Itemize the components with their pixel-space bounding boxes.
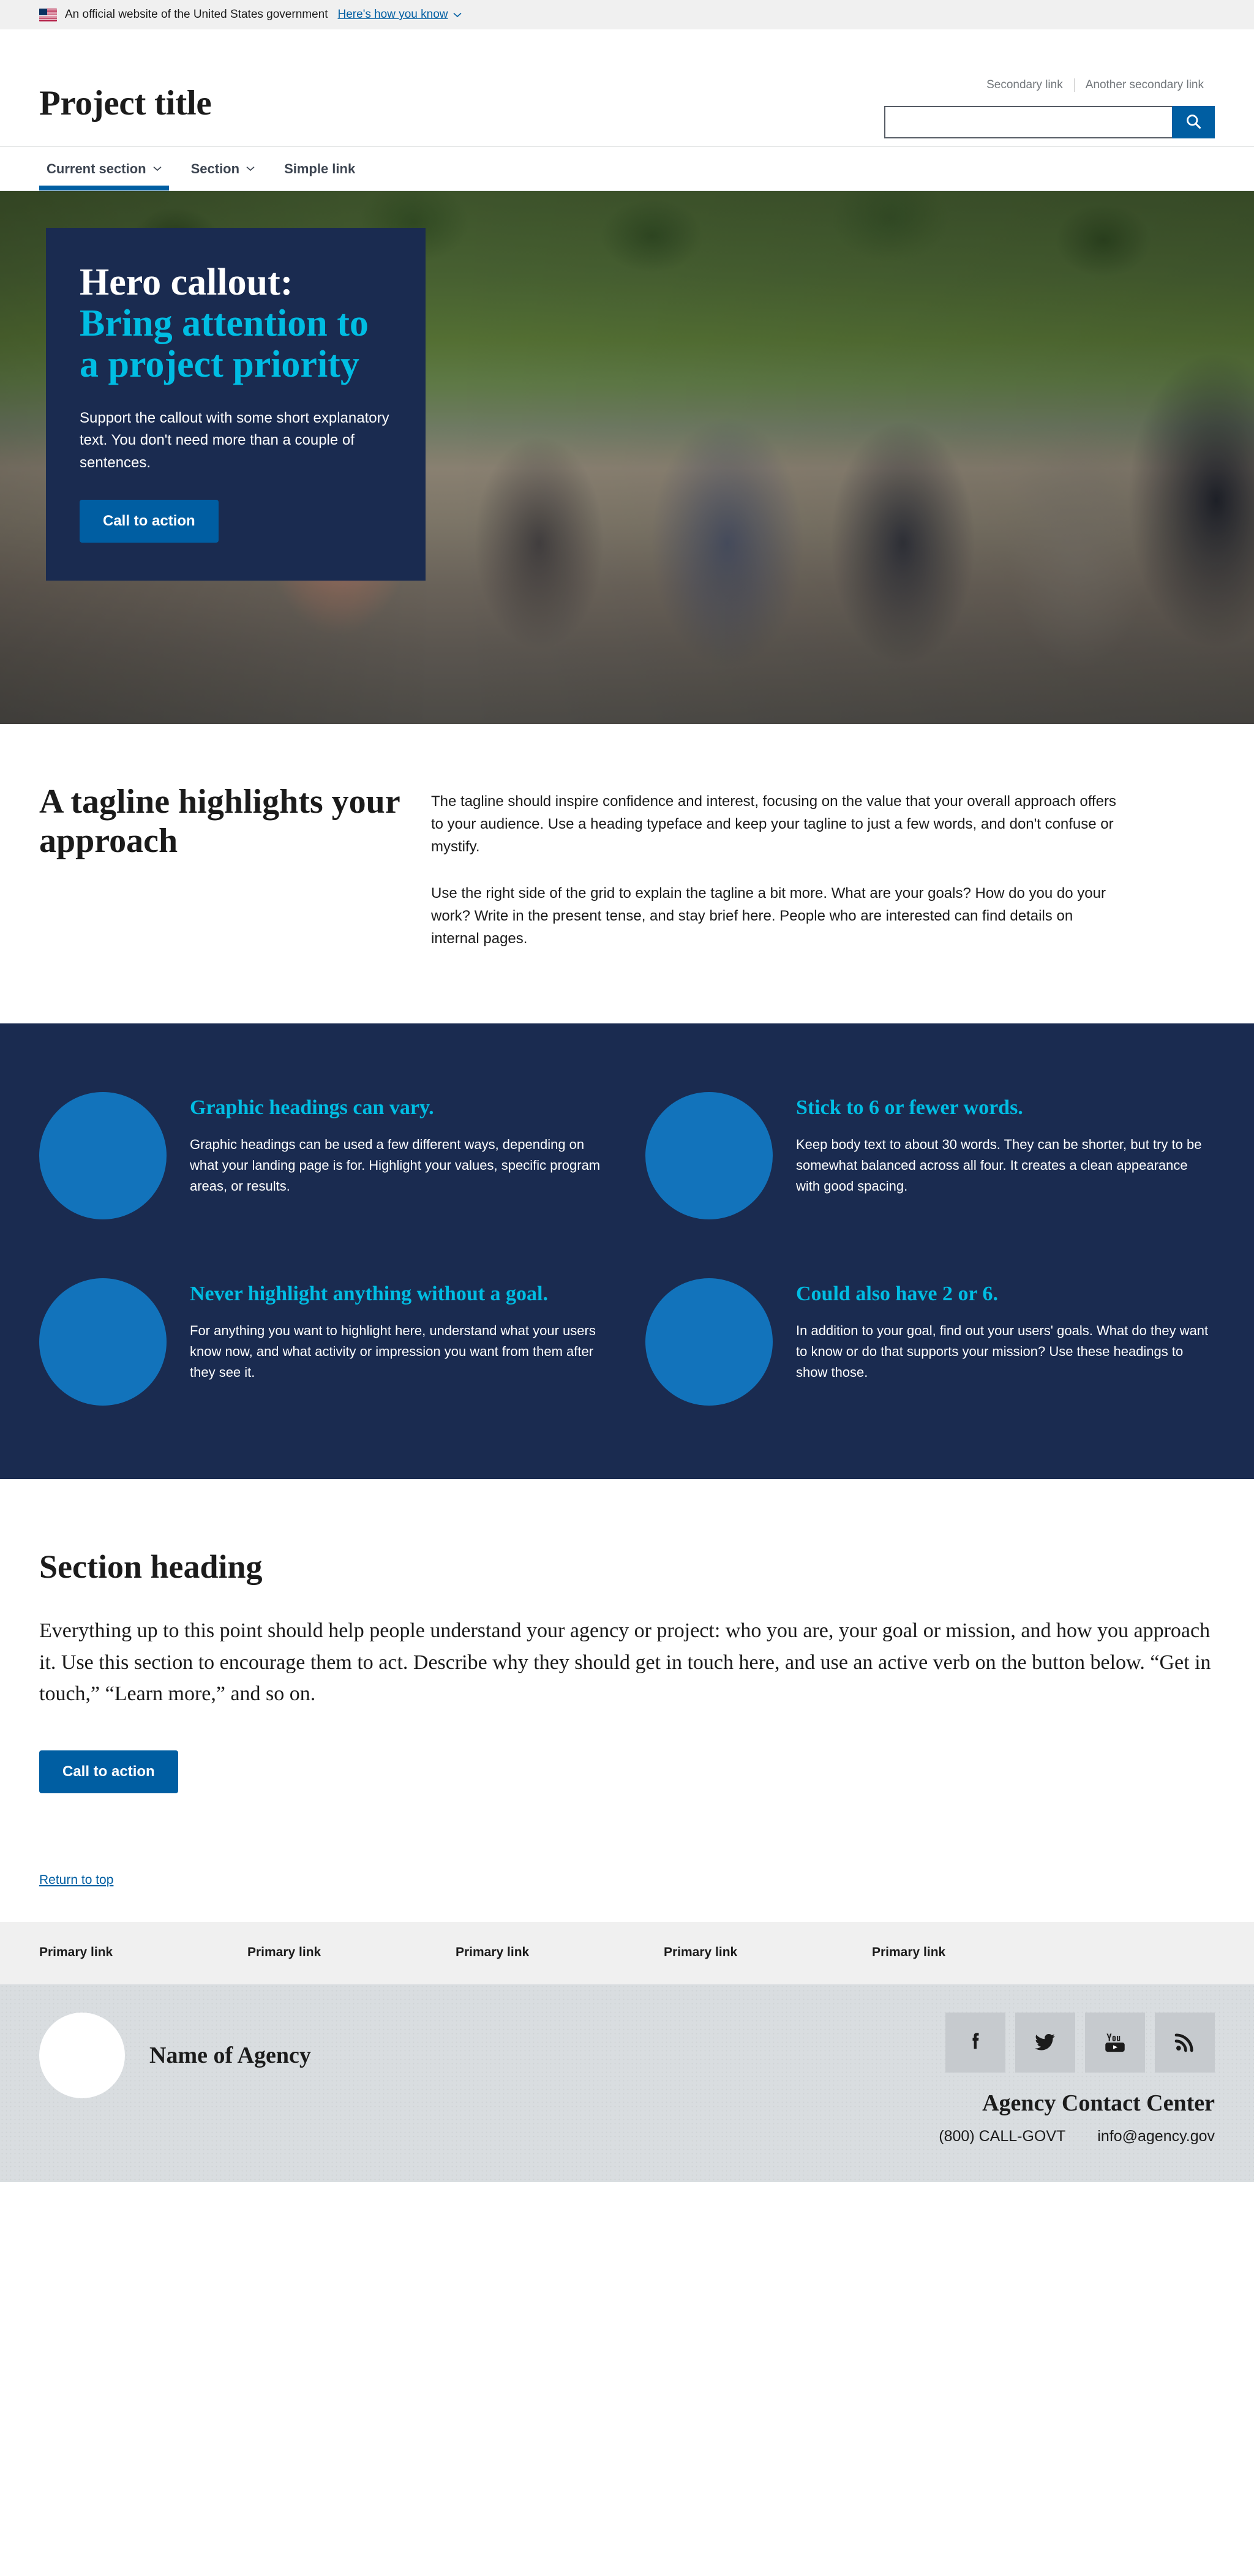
- nav-item-current-section[interactable]: Current section: [39, 147, 169, 190]
- tagline-heading: A tagline highlights your approach: [39, 783, 431, 861]
- youtube-link[interactable]: [1085, 2013, 1145, 2073]
- tagline-left-column: A tagline highlights your approach: [39, 783, 431, 950]
- graphic-item-body: Graphic headings can be used a few diffe…: [190, 1134, 609, 1197]
- contact-email[interactable]: info@agency.gov: [1097, 2128, 1215, 2145]
- circle-graphic-icon: [39, 1278, 167, 1406]
- gov-banner-text: An official website of the United States…: [65, 8, 328, 21]
- hero-body-text: Support the callout with some short expl…: [80, 407, 392, 474]
- chevron-down-icon: [246, 164, 255, 174]
- graphic-item: Graphic headings can vary. Graphic headi…: [39, 1092, 609, 1219]
- chevron-down-icon[interactable]: [453, 10, 462, 20]
- footer-primary-link-5[interactable]: Primary link: [872, 1945, 1080, 1960]
- secondary-link-2[interactable]: Another secondary link: [1075, 78, 1215, 92]
- secondary-links: Secondary link Another secondary link: [975, 78, 1215, 92]
- rss-link[interactable]: [1155, 2013, 1215, 2073]
- nav-item-label: Simple link: [284, 161, 355, 177]
- graphic-item-text: Graphic headings can vary. Graphic headi…: [190, 1092, 609, 1196]
- facebook-link[interactable]: [945, 2013, 1005, 2073]
- content-section: Section heading Everything up to this po…: [0, 1479, 1254, 1832]
- tagline-paragraph-2: Use the right side of the grid to explai…: [431, 882, 1123, 951]
- contact-center-title: Agency Contact Center: [939, 2090, 1215, 2117]
- return-to-top-wrapper: Return to top: [0, 1832, 1254, 1922]
- contact-block: Agency Contact Center (800) CALL-GOVT in…: [939, 2013, 1215, 2145]
- circle-graphic-icon: [39, 1092, 167, 1219]
- heres-how-you-know-link[interactable]: Here's how you know: [338, 8, 448, 21]
- graphic-item-heading: Stick to 6 or fewer words.: [796, 1096, 1215, 1121]
- tagline-right-column: The tagline should inspire confidence an…: [431, 783, 1123, 950]
- footer-primary-link-4[interactable]: Primary link: [664, 1945, 872, 1960]
- secondary-link-1[interactable]: Secondary link: [975, 78, 1074, 92]
- landing-page: An official website of the United States…: [0, 0, 1254, 2182]
- hero-heading-primary: Hero callout:: [80, 262, 392, 303]
- graphic-item-body: Keep body text to about 30 words. They c…: [796, 1134, 1215, 1197]
- footer-primary-link-1[interactable]: Primary link: [39, 1945, 247, 1960]
- tagline-paragraph-1: The tagline should inspire confidence an…: [431, 790, 1123, 859]
- facebook-icon: [963, 2029, 988, 2057]
- graphic-item: Could also have 2 or 6. In addition to y…: [645, 1278, 1215, 1406]
- graphic-item-heading: Could also have 2 or 6.: [796, 1282, 1215, 1307]
- agency-block: Name of Agency: [39, 2013, 311, 2098]
- nav-item-simple-link[interactable]: Simple link: [277, 147, 362, 190]
- circle-graphic-icon: [645, 1278, 773, 1406]
- hero-callout: Hero callout: Bring attention to a proje…: [46, 228, 426, 581]
- us-flag-icon: [39, 9, 57, 21]
- hero-heading-accent: Bring attention to a project priority: [80, 303, 392, 385]
- site-title[interactable]: Project title: [39, 83, 211, 123]
- graphic-item-heading: Graphic headings can vary.: [190, 1096, 609, 1121]
- graphic-item-heading: Never highlight anything without a goal.: [190, 1282, 609, 1307]
- graphic-item-body: For anything you want to highlight here,…: [190, 1320, 609, 1383]
- graphic-item-body: In addition to your goal, find out your …: [796, 1320, 1215, 1383]
- section-heading: Section heading: [39, 1548, 1215, 1586]
- hero-cta-button[interactable]: Call to action: [80, 500, 219, 543]
- chevron-down-icon: [153, 164, 162, 174]
- gov-banner: An official website of the United States…: [0, 0, 1254, 29]
- twitter-icon: [1032, 2029, 1058, 2057]
- site-footer: Primary link Primary link Primary link P…: [0, 1922, 1254, 2182]
- graphic-item-text: Could also have 2 or 6. In addition to y…: [796, 1278, 1215, 1382]
- nav-item-section[interactable]: Section: [184, 147, 262, 190]
- footer-primary-link-2[interactable]: Primary link: [247, 1945, 456, 1960]
- graphic-list-section: Graphic headings can vary. Graphic headi…: [0, 1023, 1254, 1479]
- graphic-grid: Graphic headings can vary. Graphic headi…: [39, 1092, 1215, 1406]
- circle-graphic-icon: [645, 1092, 773, 1219]
- footer-primary-link-3[interactable]: Primary link: [456, 1945, 664, 1960]
- tagline-section: A tagline highlights your approach The t…: [0, 724, 1254, 1023]
- graphic-item-text: Stick to 6 or fewer words. Keep body tex…: [796, 1092, 1215, 1196]
- nav-item-label: Section: [191, 161, 239, 177]
- graphic-item: Never highlight anything without a goal.…: [39, 1278, 609, 1406]
- primary-nav: Current section Section Simple link: [0, 147, 1254, 191]
- rss-icon: [1172, 2029, 1198, 2057]
- agency-seal-icon: [39, 2013, 125, 2098]
- graphic-item-text: Never highlight anything without a goal.…: [190, 1278, 609, 1382]
- search-icon: [1185, 113, 1202, 132]
- graphic-item: Stick to 6 or fewer words. Keep body tex…: [645, 1092, 1215, 1219]
- contact-details: (800) CALL-GOVT info@agency.gov: [939, 2128, 1215, 2145]
- agency-name: Name of Agency: [149, 2042, 311, 2069]
- site-header: Secondary link Another secondary link Pr…: [0, 29, 1254, 147]
- return-to-top-link[interactable]: Return to top: [39, 1873, 113, 1887]
- section-cta-button[interactable]: Call to action: [39, 1750, 178, 1793]
- footer-secondary: Name of Agency: [0, 1984, 1254, 2182]
- contact-phone[interactable]: (800) CALL-GOVT: [939, 2128, 1065, 2145]
- search-button[interactable]: [1172, 106, 1215, 138]
- twitter-link[interactable]: [1015, 2013, 1075, 2073]
- search-form: [884, 106, 1215, 138]
- section-body-text: Everything up to this point should help …: [39, 1615, 1215, 1710]
- footer-primary-links: Primary link Primary link Primary link P…: [0, 1922, 1254, 1984]
- youtube-icon: [1102, 2029, 1128, 2057]
- social-links: [939, 2013, 1215, 2073]
- search-input[interactable]: [884, 106, 1172, 138]
- hero-section: Hero callout: Bring attention to a proje…: [0, 191, 1254, 724]
- nav-item-label: Current section: [47, 161, 146, 177]
